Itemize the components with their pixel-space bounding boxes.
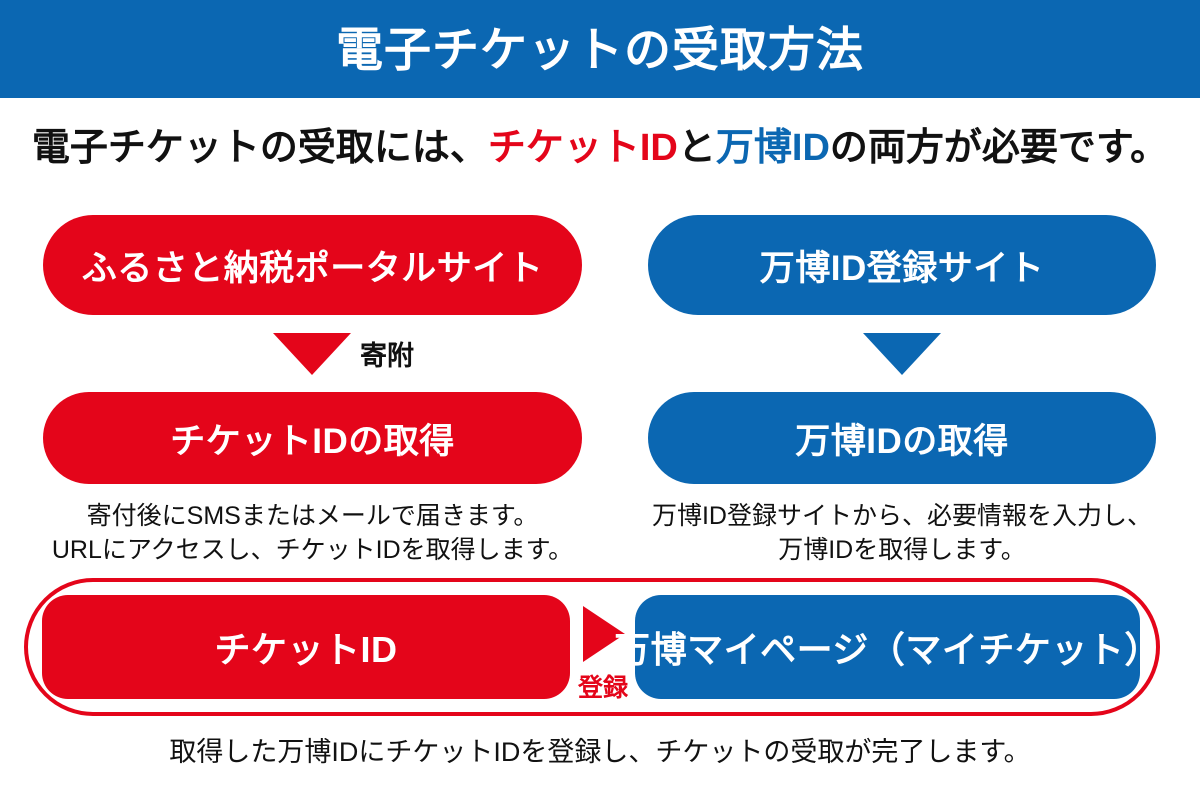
subtitle-text-part3: の両方が必要です。 [830, 127, 1168, 169]
caption-left-line1: 寄付後にSMSまたはメールで届きます。 [43, 500, 582, 534]
subtitle-line: 電子チケットの受取には、チケットIDと万博IDの両方が必要です。 [0, 128, 1200, 170]
arrow-label-donation: 寄附 [360, 334, 414, 373]
page-header: 電子チケットの受取方法 [0, 0, 1200, 98]
arrow-label-register: 登録 [566, 668, 640, 704]
subtitle-highlight-ticket-id: チケットID [488, 127, 678, 169]
caption-left-column: 寄付後にSMSまたはメールで届きます。 URLにアクセスし、チケットIDを取得し… [43, 500, 582, 568]
node-expo-mypage[interactable]: 万博マイページ（マイチケット） [635, 595, 1140, 699]
arrow-down-red-icon [273, 333, 351, 375]
arrow-down-blue-icon [863, 333, 941, 375]
caption-right-column: 万博ID登録サイトから、必要情報を入力し、 万博IDを取得します。 [648, 500, 1156, 568]
caption-footer: 取得した万博IDにチケットIDを登録し、チケットの受取が完了します。 [0, 730, 1200, 769]
page-title: 電子チケットの受取方法 [336, 26, 864, 73]
subtitle-text-part2: と [678, 127, 716, 169]
caption-right-line1: 万博ID登録サイトから、必要情報を入力し、 [648, 500, 1156, 534]
node-expo-id-acquisition[interactable]: 万博IDの取得 [648, 392, 1156, 484]
node-ticket-id-acquisition[interactable]: チケットIDの取得 [43, 392, 582, 484]
node-ticket-id[interactable]: チケットID [42, 595, 570, 699]
node-furusato-portal-site[interactable]: ふるさと納税ポータルサイト [43, 215, 582, 315]
node-expo-id-registration-site[interactable]: 万博ID登録サイト [648, 215, 1156, 315]
subtitle-text-part1: 電子チケットの受取には、 [32, 127, 488, 169]
subtitle-highlight-expo-id: 万博ID [716, 127, 830, 169]
caption-left-line2: URLにアクセスし、チケットIDを取得します。 [43, 534, 582, 568]
caption-right-line2: 万博IDを取得します。 [648, 534, 1156, 568]
